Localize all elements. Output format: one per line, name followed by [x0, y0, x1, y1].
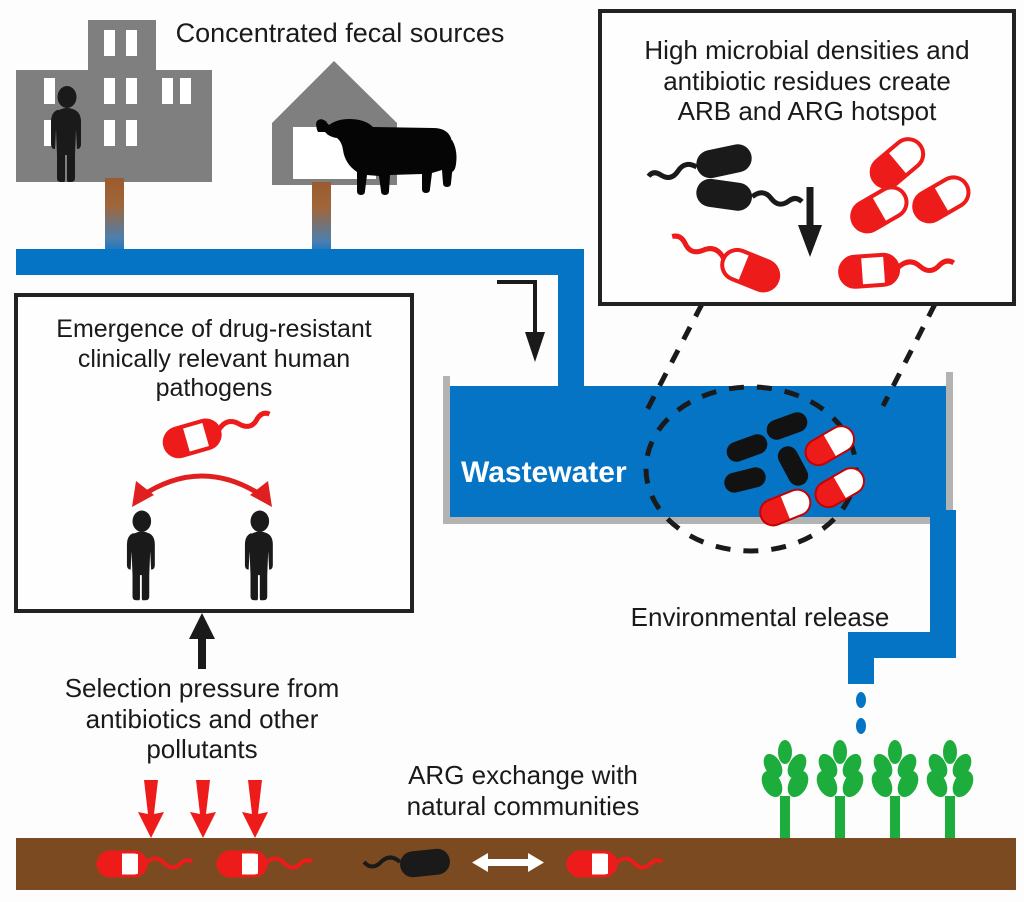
magnifier-connector-lines	[590, 300, 1024, 420]
tank-microbes-group	[690, 412, 870, 522]
selection-pressure-arrow	[182, 613, 222, 669]
person-silhouette-icon	[127, 511, 273, 601]
arg-exchange-label: ARG exchange with natural communities	[388, 760, 658, 821]
tank-label: Wastewater	[461, 456, 627, 490]
hotspot-box-text: High microbial densities and antibiotic …	[617, 35, 997, 127]
water-droplet-icon	[856, 692, 866, 734]
red-resistant-bacterium-icon	[161, 403, 273, 460]
hotspot-box: High microbial densities and antibiotic …	[598, 9, 1016, 306]
down-arrow-icon	[495, 278, 555, 368]
red-resistant-bacterium-icon	[568, 852, 662, 876]
black-bacterium-icon	[646, 142, 804, 220]
sewer-main-horizontal	[16, 249, 584, 275]
hospital-sewer-pipe	[105, 178, 124, 256]
red-resistant-bacterium-icon	[98, 852, 312, 876]
person-silhouette-icon	[50, 86, 84, 184]
figure-canvas: Concentrated fecal sources	[0, 0, 1024, 902]
release-pipe-outlet	[848, 632, 874, 684]
pollutant-arrows-group	[130, 780, 290, 842]
double-headed-exchange-arrow-icon	[132, 476, 272, 507]
pathogen-box-text: Emergence of drug-resistant clinically r…	[29, 315, 399, 404]
pathogen-illustration	[102, 415, 342, 605]
crops-group	[760, 740, 1000, 850]
cow-silhouette-icon	[312, 116, 458, 202]
environmental-release-label: Environmental release	[610, 602, 910, 633]
hotspot-illustration	[630, 139, 990, 299]
down-arrow-icon	[798, 187, 822, 257]
pathogen-box: Emergence of drug-resistant clinically r…	[14, 293, 414, 613]
barn-sewer-pipe	[312, 182, 331, 256]
soil-organisms-group	[90, 840, 650, 890]
tank-frame-left	[443, 376, 450, 524]
black-bacterium-icon	[364, 847, 451, 878]
wheat-plant-icon	[757, 740, 977, 848]
antibiotic-capsule-icon	[847, 133, 974, 237]
selection-pressure-label: Selection pressure from antibiotics and …	[52, 673, 352, 765]
inflow-arrow	[495, 278, 555, 368]
black-bacterium-icon	[722, 409, 811, 494]
red-down-arrow-icon	[138, 780, 268, 838]
up-arrow-icon	[182, 613, 222, 669]
double-headed-exchange-arrow-icon	[472, 853, 544, 872]
